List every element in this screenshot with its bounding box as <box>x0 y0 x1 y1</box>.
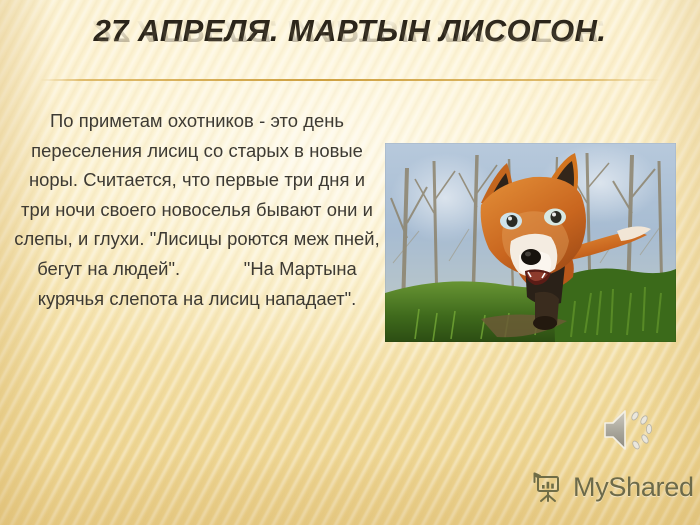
presentation-easel-icon <box>531 470 565 504</box>
myshared-logo[interactable]: MyShared <box>531 470 694 504</box>
presentation-slide: 27 апреля. Мартын Лисогон. 27 апреля. Ма… <box>0 0 700 525</box>
fox-photo <box>385 143 676 342</box>
speaker-waves <box>630 411 651 450</box>
speaker-body <box>605 411 625 449</box>
slide-body-text: По приметам охотников - это день пересел… <box>14 106 380 313</box>
page-title: 27 апреля. Мартын Лисогон. <box>0 14 700 47</box>
fox-photo-illustration <box>385 143 676 342</box>
sound-icon[interactable] <box>600 404 664 456</box>
title-block: 27 апреля. Мартын Лисогон. 27 апреля. Ма… <box>0 14 700 82</box>
myshared-logo-text: MyShared <box>573 474 694 501</box>
title-divider <box>40 79 662 81</box>
